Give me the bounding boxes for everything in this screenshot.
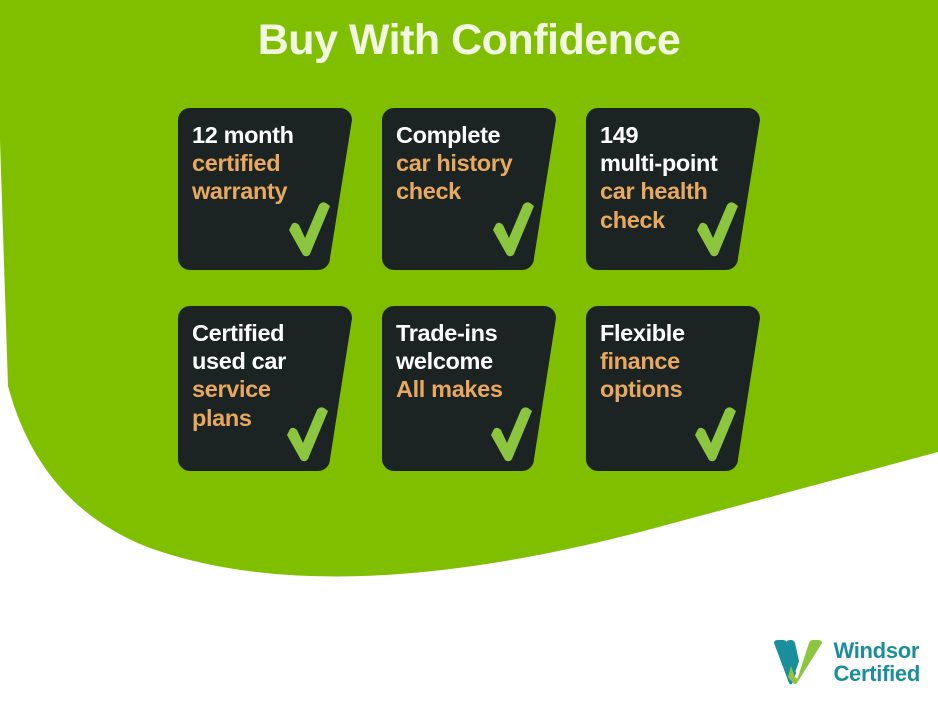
page-title: Buy With Confidence — [0, 16, 938, 65]
card-line: used car — [192, 347, 346, 375]
card-line: 12 month — [192, 121, 346, 149]
card-line: certified — [192, 149, 346, 177]
card-line: multi-point — [600, 149, 754, 177]
check-icon — [694, 202, 740, 258]
feature-card-finance-options[interactable]: Flexible finance options — [586, 306, 760, 471]
card-line: Flexible — [600, 319, 754, 347]
card-line: 149 — [600, 121, 754, 149]
card-line: service — [192, 375, 346, 403]
feature-card-grid: 12 month certified warranty Complete car… — [178, 108, 758, 471]
feature-card-multi-point-check[interactable]: 149 multi-point car health check — [586, 108, 760, 270]
brand-name-line2: Certified — [833, 662, 920, 686]
card-text: 12 month certified warranty — [178, 108, 352, 206]
check-icon — [692, 407, 738, 463]
windsor-w-icon — [772, 639, 824, 685]
feature-card-trade-ins[interactable]: Trade-ins welcome All makes — [382, 306, 556, 471]
card-line: Certified — [192, 319, 346, 347]
brand-logo[interactable]: Windsor Certified — [772, 639, 920, 687]
check-icon — [286, 202, 332, 258]
card-text: Complete car history check — [382, 108, 556, 206]
card-line: Trade-ins — [396, 319, 550, 347]
card-line: All makes — [396, 375, 550, 403]
card-text: Trade-ins welcome All makes — [382, 306, 556, 404]
card-line: car history — [396, 149, 550, 177]
feature-card-service-plans[interactable]: Certified used car service plans — [178, 306, 352, 471]
card-line: options — [600, 375, 754, 403]
check-icon — [284, 407, 330, 463]
card-text: Flexible finance options — [586, 306, 760, 404]
check-icon — [490, 202, 536, 258]
check-icon — [488, 407, 534, 463]
brand-name-line1: Windsor — [833, 639, 920, 663]
card-line: finance — [600, 347, 754, 375]
card-line: Complete — [396, 121, 550, 149]
brand-logo-text: Windsor Certified — [833, 639, 920, 687]
feature-card-car-history-check[interactable]: Complete car history check — [382, 108, 556, 270]
card-line: welcome — [396, 347, 550, 375]
feature-card-certified-warranty[interactable]: 12 month certified warranty — [178, 108, 352, 270]
